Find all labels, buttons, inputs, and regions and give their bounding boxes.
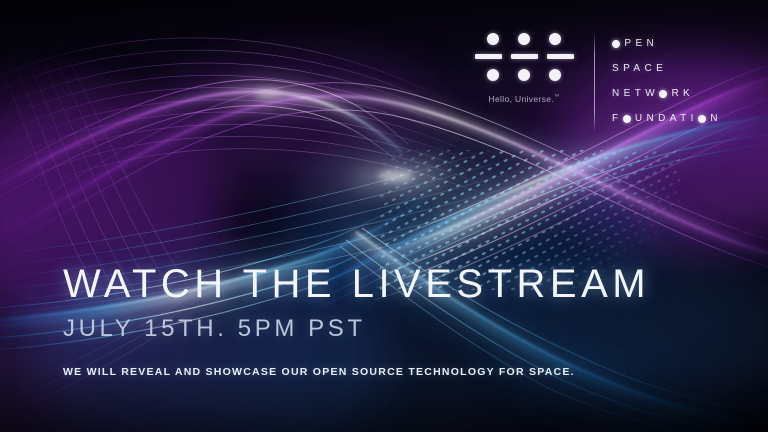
- wordmark-foundation-end: N: [710, 113, 722, 124]
- logo-dash-row-middle: [475, 54, 574, 59]
- letter-o-dot-icon: [623, 115, 631, 123]
- logo-dash: [475, 54, 502, 59]
- wordmark-line-foundation: FUNDATIN: [612, 106, 722, 131]
- wordmark-network-post: RK: [671, 88, 694, 99]
- letter-o-dot-icon: [659, 90, 667, 98]
- wordmark-line-network: NETWRK: [612, 81, 722, 106]
- logo-dash: [511, 54, 538, 59]
- logo-dot-matrix-mark: Hello, Universe.™: [470, 28, 578, 104]
- wordmark-foundation-mid: UNDATI: [635, 113, 698, 124]
- logo-dot: [549, 69, 561, 81]
- logo-dot: [518, 33, 530, 45]
- wordmark-network-pre: NETW: [612, 88, 659, 99]
- logo-dot: [518, 69, 530, 81]
- logo-dot-row-top: [487, 32, 561, 45]
- announcement-copy: WATCH THE LIVESTREAM JULY 15TH. 5PM PST …: [63, 264, 650, 378]
- poster-canvas: Hello, Universe.™ PEN SPACE NETWRK FUNDA…: [0, 0, 768, 432]
- page-title: WATCH THE LIVESTREAM: [63, 264, 650, 304]
- wordmark-line-space: SPACE: [612, 56, 722, 81]
- logo-divider: [594, 34, 595, 130]
- letter-o-dot-icon: [698, 115, 706, 123]
- event-description: WE WILL REVEAL AND SHOWCASE OUR OPEN SOU…: [63, 367, 650, 378]
- logo-wordmark: PEN SPACE NETWRK FUNDATIN: [612, 28, 722, 131]
- logo-dot: [487, 33, 499, 45]
- logo-dot-row-bottom: [487, 68, 561, 81]
- trademark-symbol: ™: [554, 94, 560, 100]
- wordmark-foundation-pre: F: [612, 113, 623, 124]
- wordmark-open-text: PEN: [624, 38, 658, 49]
- logo-tagline: Hello, Universe.™: [488, 94, 559, 104]
- wordmark-space-text: SPACE: [612, 63, 667, 74]
- letter-o-dot-icon: [612, 40, 620, 48]
- brand-logo: Hello, Universe.™ PEN SPACE NETWRK FUNDA…: [470, 28, 752, 136]
- event-datetime: JULY 15TH. 5PM PST: [63, 317, 650, 341]
- logo-dash: [547, 54, 574, 59]
- logo-tagline-text: Hello, Universe.: [488, 94, 554, 104]
- wordmark-line-open: PEN: [612, 31, 722, 56]
- logo-dot: [487, 69, 499, 81]
- logo-dot: [549, 33, 561, 45]
